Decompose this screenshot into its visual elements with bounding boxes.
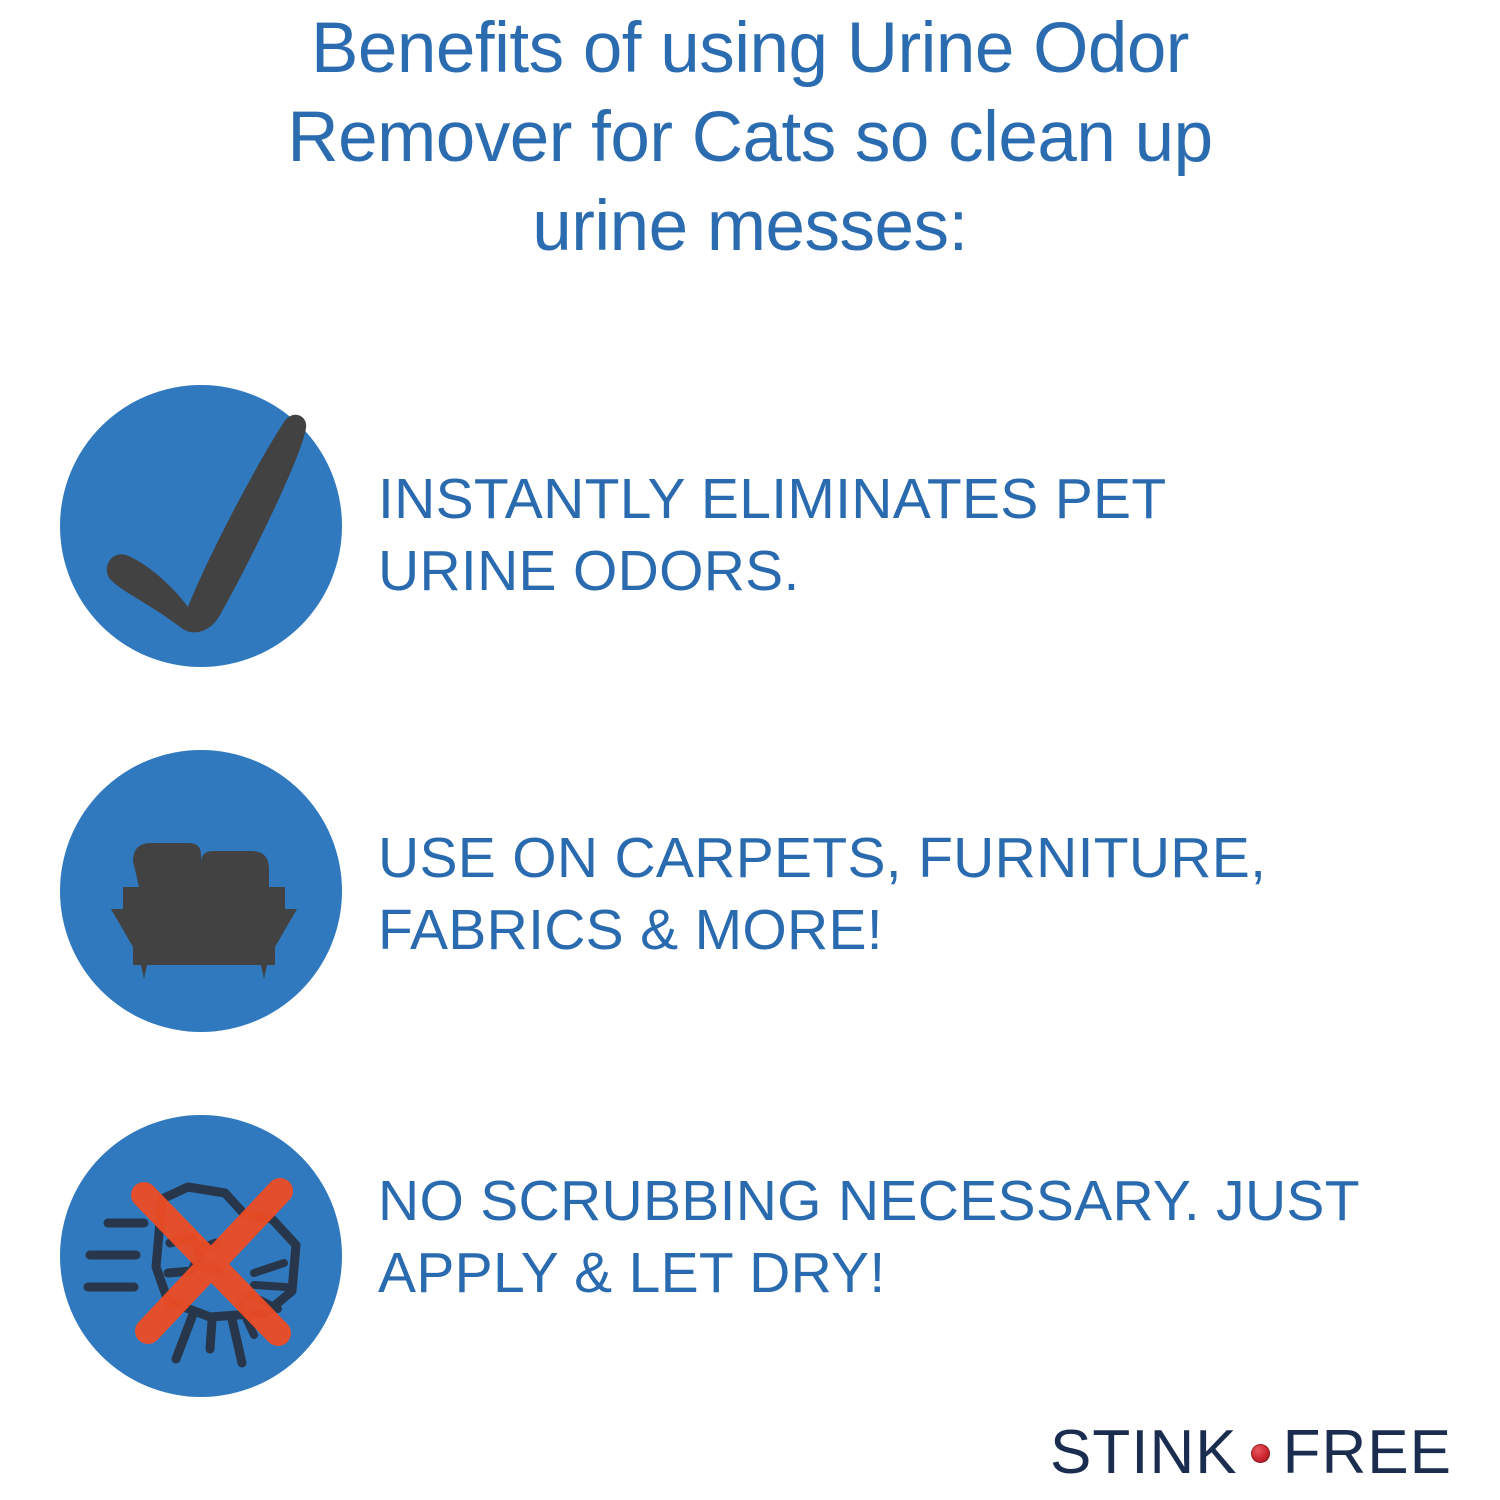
- logo-word-stink: STINK: [1050, 1422, 1238, 1484]
- benefit-row: USE ON CARPETS, FURNITURE, FABRICS & MOR…: [0, 740, 1500, 1040]
- benefit-label: USE ON CARPETS, FURNITURE, FABRICS & MOR…: [378, 822, 1468, 966]
- check-mark-icon: [40, 365, 362, 687]
- benefit-row: NO SCRUBBING NECESSARY. JUST APPLY & LET…: [0, 1105, 1500, 1405]
- benefit-icon-container: [60, 1115, 342, 1397]
- logo-dot-icon: [1251, 1444, 1270, 1463]
- benefit-icon-container: [60, 385, 342, 667]
- benefit-icon-container: [60, 750, 342, 1032]
- logo-word-free: FREE: [1283, 1422, 1452, 1484]
- stink-free-logo: STINK FREE: [1050, 1418, 1452, 1488]
- benefits-infographic: Benefits of using Urine Odor Remover for…: [0, 0, 1500, 1500]
- page-title: Benefits of using Urine Odor Remover for…: [70, 4, 1430, 271]
- benefit-row: INSTANTLY ELIMINATES PET URINE ODORS.: [0, 375, 1500, 675]
- no-scrubbing-icon: [40, 1095, 362, 1417]
- benefit-label: INSTANTLY ELIMINATES PET URINE ODORS.: [378, 463, 1468, 607]
- benefit-label: NO SCRUBBING NECESSARY. JUST APPLY & LET…: [378, 1165, 1468, 1309]
- couch-icon: [40, 730, 362, 1052]
